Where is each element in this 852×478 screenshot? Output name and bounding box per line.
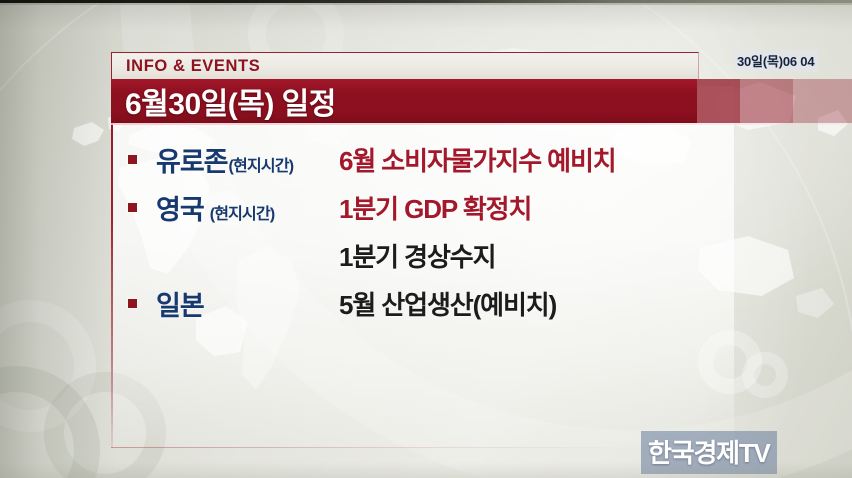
- broadcast-graphic-screen: INFO & EVENTS 6월30일(목) 일정 30일(목)06 04 유로…: [0, 0, 852, 478]
- title-bar-tail-segment-2: [740, 79, 793, 123]
- title-bar: 6월30일(목) 일정: [111, 79, 697, 123]
- title-bar-underline: [111, 123, 852, 125]
- title-bar-tail-segment-3: [793, 79, 852, 123]
- list-item: 일본 5월 산업생산(예비치): [111, 279, 734, 327]
- country-name: 유로존: [156, 140, 228, 179]
- country-qualifier: (현지시간): [229, 152, 294, 176]
- country-name: 영국: [156, 188, 204, 227]
- watermark-ring: [742, 352, 788, 398]
- event-label: 6월 소비자물가지수 예비치: [339, 141, 616, 178]
- country-name: 일본: [156, 284, 204, 323]
- event-label: 5월 산업생산(예비치): [339, 285, 556, 322]
- bullet-icon: [128, 203, 137, 212]
- kicker-bar: INFO & EVENTS: [111, 52, 699, 79]
- country-label: 영국 (현지시간): [156, 188, 274, 227]
- page-title: 6월30일(목) 일정: [125, 79, 336, 123]
- title-bar-tail-segment-1: [697, 79, 740, 123]
- list-item: 1분기 경상수지: [111, 231, 734, 279]
- event-label: 1분기 경상수지: [339, 237, 495, 274]
- country-qualifier: (현지시간): [210, 200, 275, 224]
- list-item: 영국 (현지시간) 1분기 GDP 확정치: [111, 183, 734, 231]
- country-label: 일본: [156, 284, 205, 323]
- schedule-list: 유로존 (현지시간) 6월 소비자물가지수 예비치 영국 (현지시간) 1분기 …: [111, 135, 734, 327]
- list-item: 유로존 (현지시간) 6월 소비자물가지수 예비치: [111, 135, 734, 183]
- event-label: 1분기 GDP 확정치: [339, 189, 531, 226]
- bullet-icon: [128, 299, 137, 308]
- kicker-label: INFO & EVENTS: [126, 57, 260, 76]
- bullet-icon: [128, 155, 137, 164]
- country-label: 유로존 (현지시간): [156, 140, 293, 179]
- bottom-fade: [0, 462, 852, 478]
- top-letterbox-line-secondary: [0, 3, 852, 5]
- broadcast-timestamp: 30일(목)06 04: [733, 50, 818, 72]
